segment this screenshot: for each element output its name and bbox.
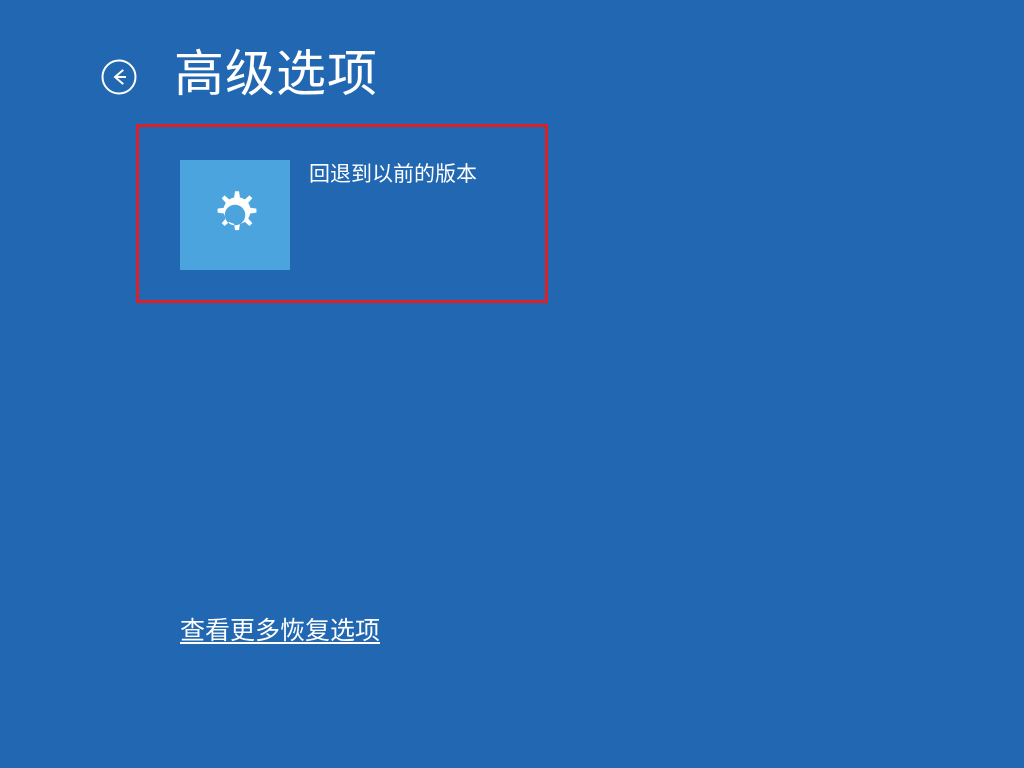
option-go-back-to-previous-version[interactable]: 回退到以前的版本: [180, 160, 477, 270]
option-icon-tile: [180, 160, 290, 270]
see-more-recovery-options-link[interactable]: 查看更多恢复选项: [180, 615, 380, 647]
circle-arrow-left-icon[interactable]: [100, 58, 138, 96]
option-label: 回退到以前的版本: [309, 162, 477, 188]
header: 高级选项: [100, 45, 378, 103]
gear-icon: [208, 188, 262, 242]
page-title: 高级选项: [174, 45, 378, 103]
recovery-screen: 高级选项 回退到以前的版本 查看更多恢复选项: [0, 0, 1024, 768]
